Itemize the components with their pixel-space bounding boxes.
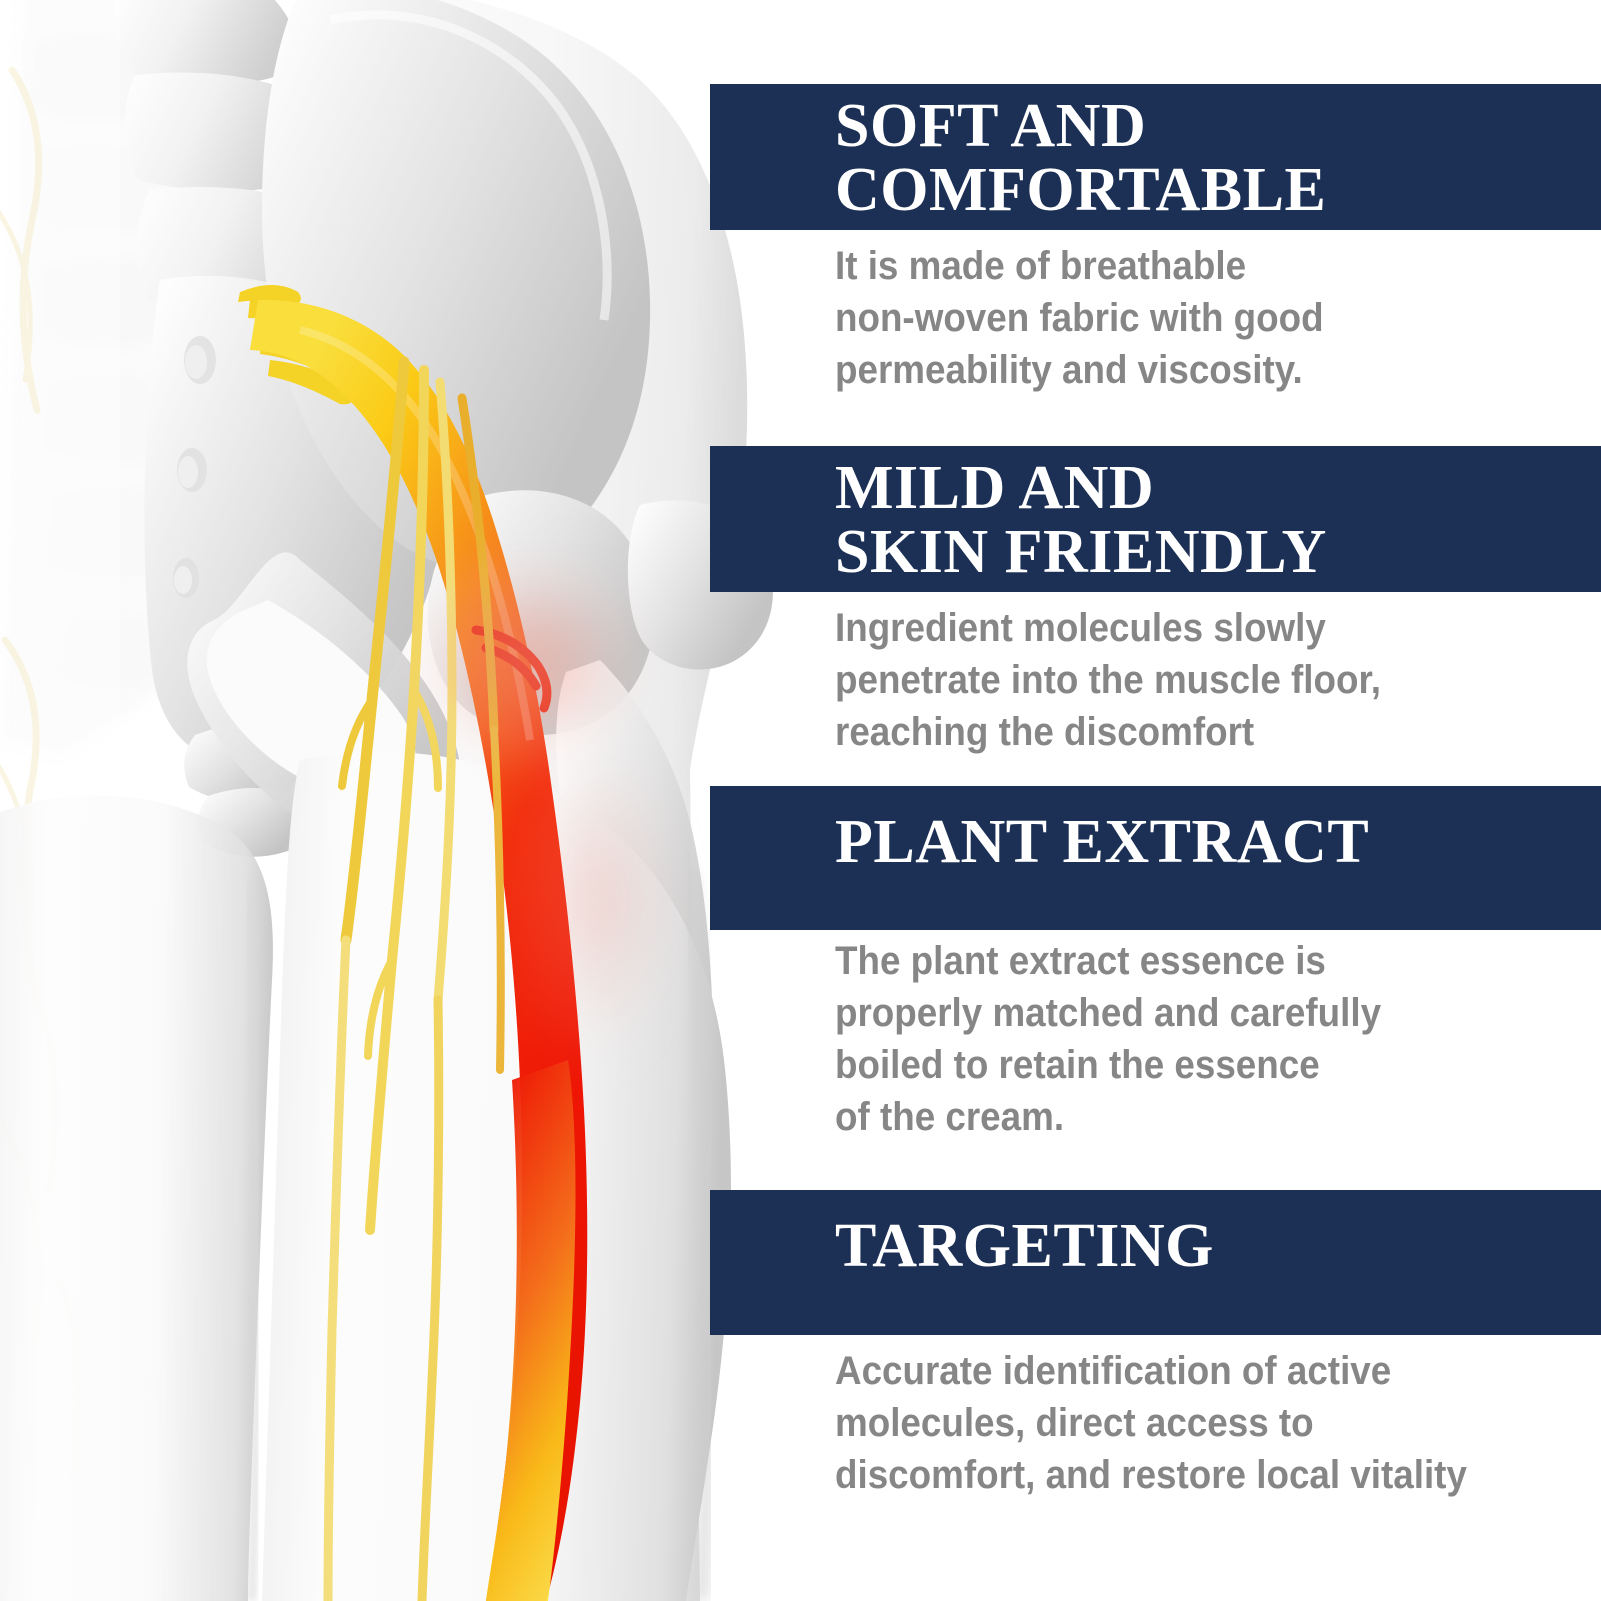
feature-band-4: TARGETING xyxy=(710,1190,1601,1335)
feature-list: SOFT AND COMFORTABLE It is made of breat… xyxy=(0,0,1601,1601)
feature-body-4: Accurate identification of active molecu… xyxy=(835,1345,1467,1501)
feature-title-3: PLANT EXTRACT xyxy=(835,810,1369,874)
feature-title-1: SOFT AND COMFORTABLE xyxy=(835,94,1326,223)
feature-title-4: TARGETING xyxy=(835,1214,1214,1278)
feature-body-3: The plant extract essence is properly ma… xyxy=(835,935,1381,1143)
feature-body-1: It is made of breathable non-woven fabri… xyxy=(835,240,1324,396)
feature-band-2: MILD AND SKIN FRIENDLY xyxy=(710,446,1601,592)
product-feature-infographic: SOFT AND COMFORTABLE It is made of breat… xyxy=(0,0,1601,1601)
feature-band-1: SOFT AND COMFORTABLE xyxy=(710,84,1601,230)
feature-band-3: PLANT EXTRACT xyxy=(710,786,1601,930)
feature-body-2: Ingredient molecules slowly penetrate in… xyxy=(835,602,1381,758)
feature-title-2: MILD AND SKIN FRIENDLY xyxy=(835,456,1327,585)
